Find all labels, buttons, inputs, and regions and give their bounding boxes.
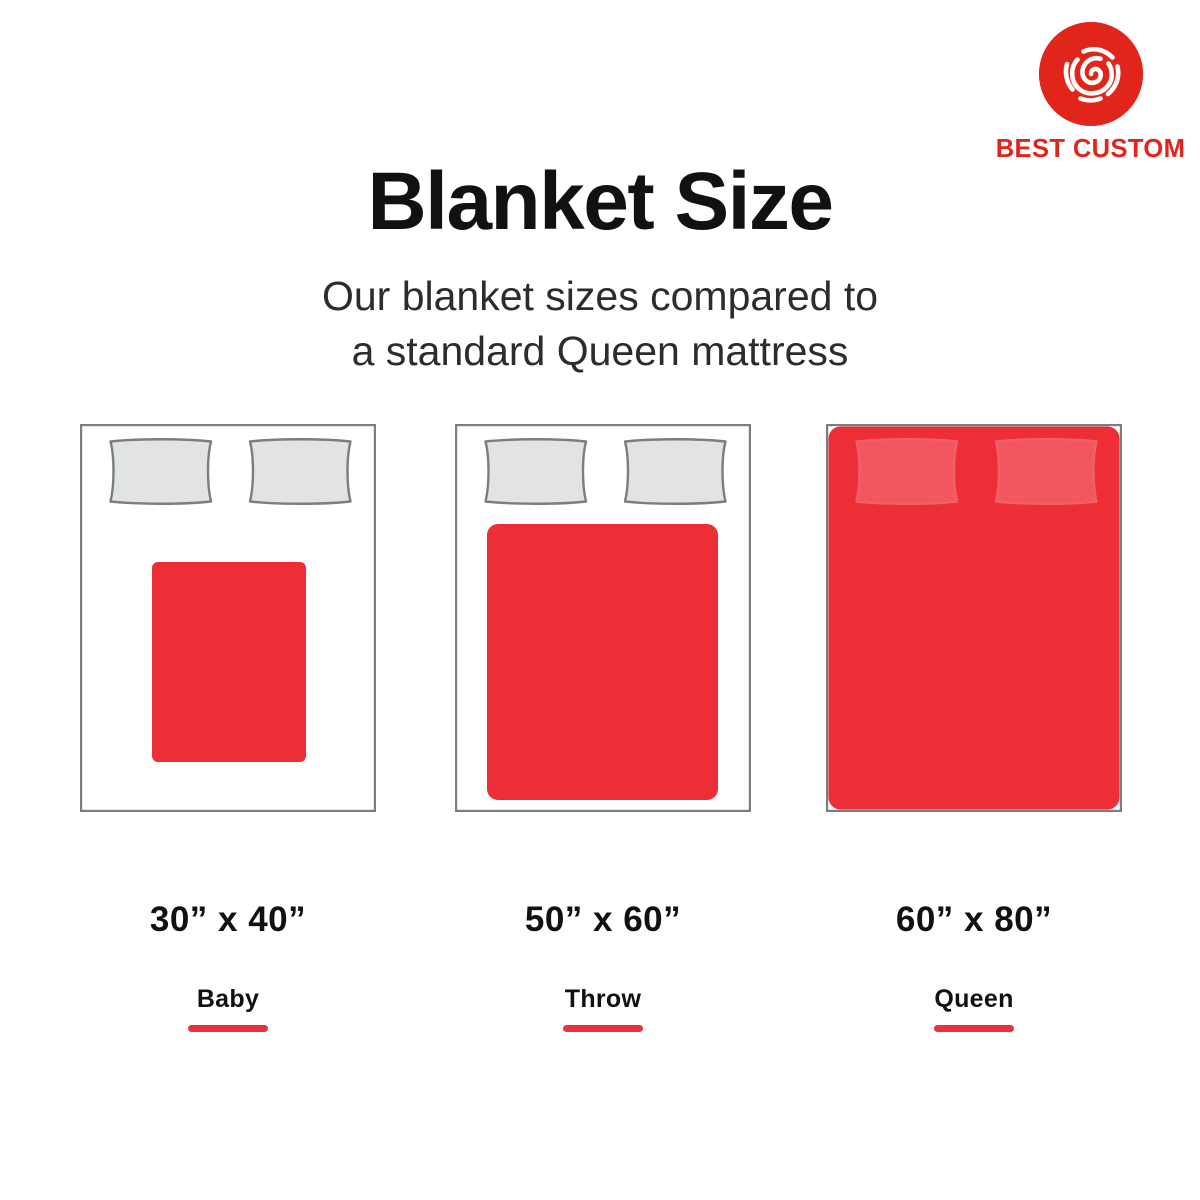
blanket-throw	[487, 524, 718, 800]
name-label-baby: Baby	[80, 985, 376, 1014]
pillow-right	[250, 439, 351, 504]
pillow-right	[625, 439, 726, 504]
page-title: Blanket Size	[0, 159, 1200, 245]
bed-diagram-throw	[455, 424, 751, 812]
name-label-throw: Throw	[455, 985, 751, 1014]
pillow-left	[486, 439, 587, 504]
pillow-left	[857, 439, 958, 504]
size-label-baby: 30” x 40”	[80, 900, 376, 940]
bed-diagram-baby	[80, 424, 376, 812]
accent-rule-queen	[934, 1025, 1014, 1032]
size-label-queen: 60” x 80”	[826, 900, 1122, 940]
page-subtitle: Our blanket sizes compared to a standard…	[0, 269, 1200, 378]
caption-baby: 30” x 40” Baby	[80, 900, 376, 1032]
name-label-queen: Queen	[826, 985, 1122, 1014]
accent-rule-baby	[188, 1025, 268, 1032]
bed-diagram-queen	[826, 424, 1122, 812]
captions-row: 30” x 40” Baby 50” x 60” Throw 60” x 80”…	[0, 900, 1200, 1040]
caption-throw: 50” x 60” Throw	[455, 900, 751, 1032]
blanket-baby	[152, 562, 306, 762]
accent-rule-throw	[563, 1025, 643, 1032]
pillow-right	[996, 439, 1097, 504]
bed-diagrams-row	[0, 424, 1200, 814]
blanket-size-infographic: BEST CUSTOM Blanket Size Our blanket siz…	[0, 0, 1200, 1200]
caption-queen: 60” x 80” Queen	[826, 900, 1122, 1032]
pillow-left	[111, 439, 212, 504]
size-label-throw: 50” x 60”	[455, 900, 751, 940]
fingerprint-icon	[1039, 22, 1143, 126]
